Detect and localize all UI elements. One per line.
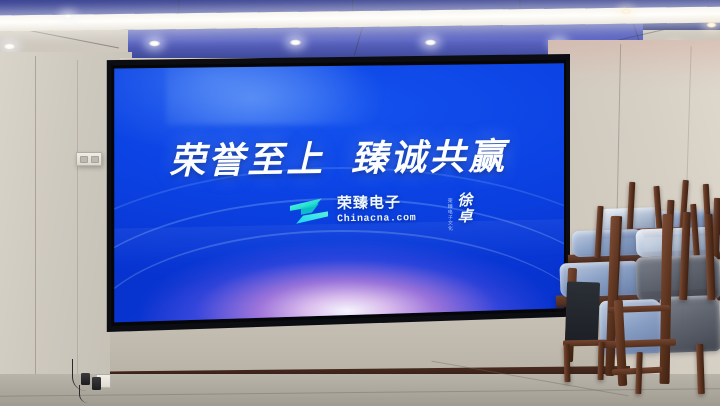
screen-top-glow (166, 62, 383, 125)
calligraphy-seal: 荣臻电子文化 徐卓 (446, 192, 471, 231)
switch-rocker[interactable] (91, 156, 99, 163)
chair-leg (598, 342, 605, 380)
ceiling-spotlight (63, 14, 73, 19)
ceiling-spotlight (3, 43, 16, 50)
seal-signature: 徐卓 (454, 192, 470, 224)
wall-switch-plate[interactable] (76, 152, 102, 166)
chair-seat-cushion (565, 281, 600, 344)
company-logo: 荣臻电子 Chinacna.com (288, 195, 417, 227)
ceiling-spotlight (289, 39, 302, 46)
display-headline: 荣誉至上臻诚共赢 (112, 127, 564, 185)
wall-panel-seam (77, 60, 78, 384)
logo-brand-en: Chinacna.com (337, 214, 416, 225)
ceiling-spotlight (621, 9, 631, 14)
led-display-screen[interactable]: 荣誉至上臻诚共赢 (112, 62, 564, 324)
seal-caption: 荣臻电子文化 (446, 198, 452, 231)
ceiling-spotlight (148, 40, 161, 47)
headline-phrase-right: 臻诚共赢 (351, 137, 508, 179)
switch-rocker[interactable] (80, 156, 88, 163)
chair-leg (564, 344, 571, 382)
plastic-wrapped-furniture (572, 229, 645, 257)
arrow-exchange-icon (288, 196, 330, 227)
ceiling-spotlight (706, 22, 717, 28)
power-plug (92, 377, 101, 390)
logo-brand-cn: 荣臻电子 (337, 196, 416, 212)
wall-warm-reflection (548, 40, 720, 92)
headline-phrase-left: 荣誉至上 (169, 139, 326, 181)
room-photo-scene: 荣誉至上臻诚共赢 (0, 0, 720, 406)
logo-text-block: 荣臻电子 Chinacna.com (337, 196, 417, 225)
wall-panel-seam (35, 56, 36, 386)
led-display-bezel[interactable]: 荣誉至上臻诚共赢 (104, 54, 570, 332)
ceiling-spotlight (424, 39, 437, 46)
